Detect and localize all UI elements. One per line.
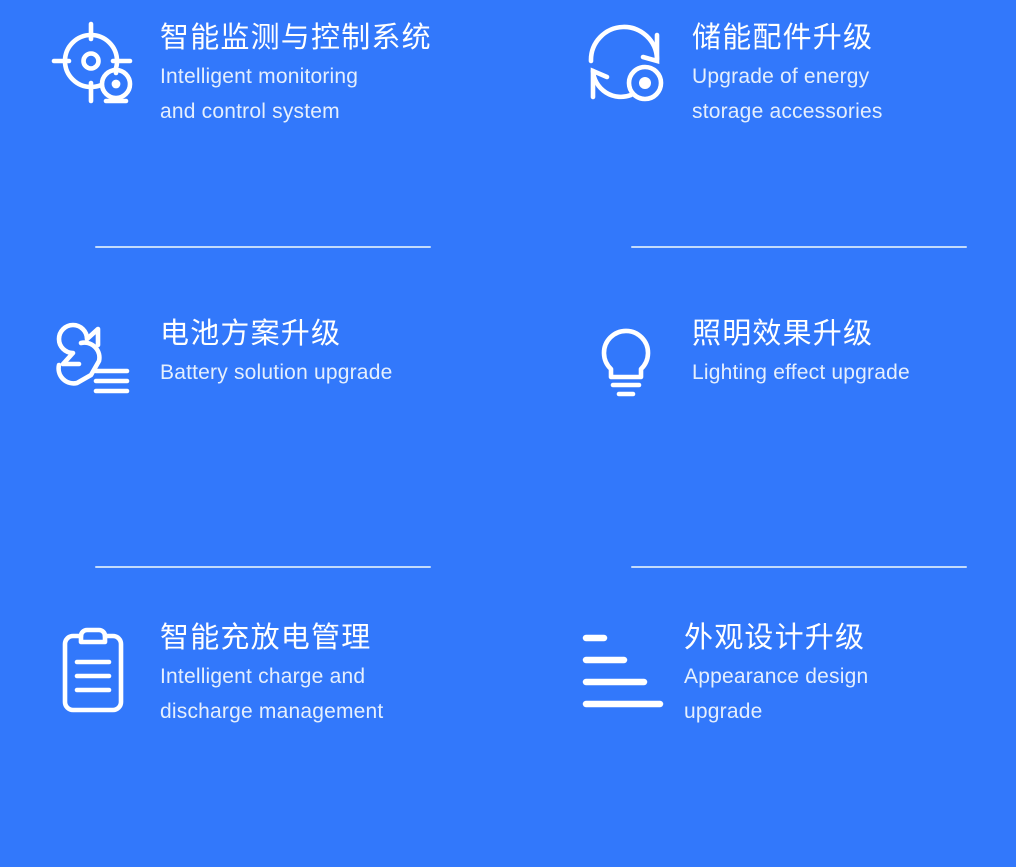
light-bulb-icon [578,312,674,408]
feature-subtitle-line-2: upgrade [684,694,868,729]
feature-text-block: 外观设计升级 Appearance design upgrade [684,600,868,730]
feature-subtitle-line-2: discharge management [160,694,383,729]
feature-subtitle-en: Intelligent charge and discharge managem… [160,659,383,730]
divider-row2-right [631,566,967,568]
feature-subtitle-line-2: and control system [160,94,432,129]
feature-title-cn: 外观设计升级 [684,618,868,659]
feature-text-block: 智能充放电管理 Intelligent charge and discharge… [160,600,383,730]
feature-text-block: 电池方案升级 Battery solution upgrade [160,300,392,390]
feature-title-cn: 电池方案升级 [160,314,392,355]
divider-row1-right [631,246,967,248]
feature-subtitle-line-1: Upgrade of energy [692,59,883,94]
crosshair-monitor-icon [46,16,142,112]
feature-subtitle-en: Battery solution upgrade [160,355,392,390]
ascending-bars-icon [570,618,666,722]
feature-title-cn: 储能配件升级 [692,18,883,59]
feature-subtitle-line-1: Lighting effect upgrade [692,355,910,390]
feature-card-lighting-effect[interactable]: 照明效果升级 Lighting effect upgrade [508,300,1016,570]
feature-title-cn: 智能充放电管理 [160,618,383,659]
feature-row-3: 智能充放电管理 Intelligent charge and discharge… [0,600,1016,867]
feature-subtitle-line-1: Intelligent charge and [160,659,383,694]
feature-text-block: 智能监测与控制系统 Intelligent monitoring and con… [160,0,432,130]
feature-card-charge-management[interactable]: 智能充放电管理 Intelligent charge and discharge… [0,600,508,867]
feature-title-cn: 照明效果升级 [692,314,910,355]
feature-subtitle-en: Appearance design upgrade [684,659,868,730]
feature-card-appearance-design[interactable]: 外观设计升级 Appearance design upgrade [508,600,1016,867]
feature-subtitle-en: Upgrade of energy storage accessories [692,59,883,130]
clipboard-icon [46,618,142,722]
feature-subtitle-en: Intelligent monitoring and control syste… [160,59,432,130]
feature-subtitle-en: Lighting effect upgrade [692,355,910,390]
feature-subtitle-line-1: Battery solution upgrade [160,355,392,390]
feature-row-2: 电池方案升级 Battery solution upgrade 照明 [0,300,1016,570]
feature-card-energy-storage[interactable]: 储能配件升级 Upgrade of energy storage accesso… [508,0,1016,270]
feature-card-battery-solution[interactable]: 电池方案升级 Battery solution upgrade [0,300,508,570]
feature-subtitle-line-1: Intelligent monitoring [160,59,432,94]
feature-text-block: 照明效果升级 Lighting effect upgrade [692,300,910,390]
divider-row1-left [95,246,431,248]
feature-title-cn: 智能监测与控制系统 [160,18,432,59]
energy-recycle-icon [578,16,674,112]
feature-grid-panel: 智能监测与控制系统 Intelligent monitoring and con… [0,0,1016,867]
feature-subtitle-line-1: Appearance design [684,659,868,694]
divider-row2-left [95,566,431,568]
feature-card-intelligent-monitoring[interactable]: 智能监测与控制系统 Intelligent monitoring and con… [0,0,508,270]
feature-row-1: 智能监测与控制系统 Intelligent monitoring and con… [0,0,1016,270]
feature-subtitle-line-2: storage accessories [692,94,883,129]
feature-text-block: 储能配件升级 Upgrade of energy storage accesso… [692,0,883,130]
wrench-list-icon [46,312,142,408]
